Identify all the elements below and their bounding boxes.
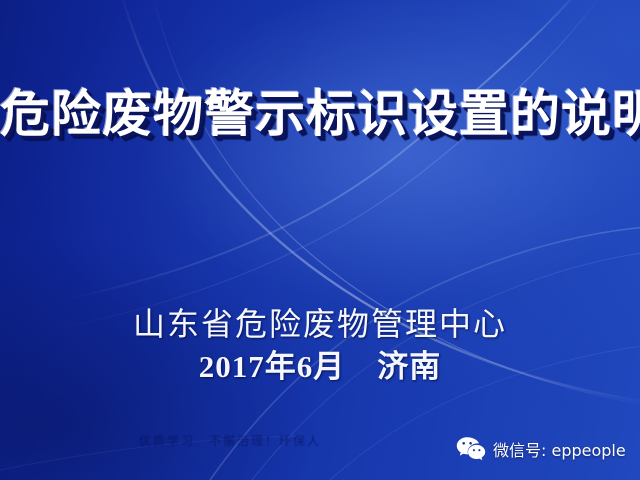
wechat-account-badge: 微信号: eppeople	[456, 436, 626, 462]
organization-name: 山东省危险废物管理中心	[0, 303, 640, 345]
date-and-location: 2017年6月 济南	[0, 345, 640, 389]
slide-background-swoosh-decoration	[0, 0, 640, 480]
presentation-slide: 危险废物警示标识设置的说明 山东省危险废物管理中心 2017年6月 济南 优质学…	[0, 0, 640, 480]
slide-title: 危险废物警示标识设置的说明	[0, 86, 640, 142]
wechat-icon	[456, 436, 486, 462]
slide-title-container: 危险废物警示标识设置的说明	[0, 86, 640, 142]
faint-watermark-text: 优质学习 不懈治理！环保人	[0, 432, 460, 449]
wechat-account-label: 微信号: eppeople	[493, 437, 626, 461]
slide-subtitle-container: 山东省危险废物管理中心 2017年6月 济南	[0, 303, 640, 389]
